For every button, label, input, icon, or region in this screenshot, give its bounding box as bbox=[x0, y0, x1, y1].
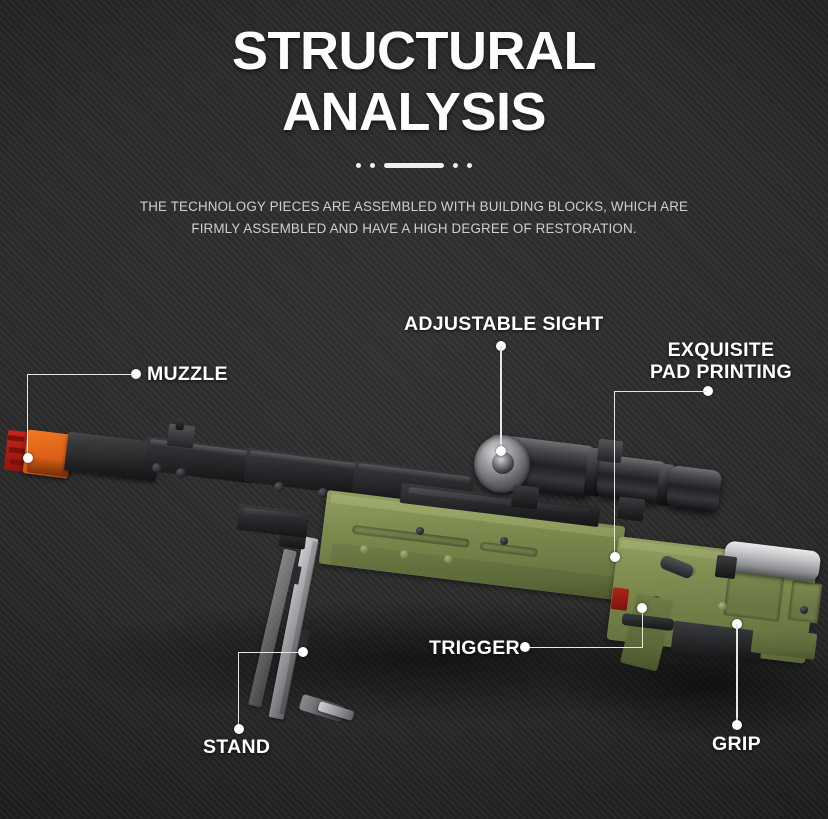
title-line-1: STRUCTURAL bbox=[232, 21, 596, 81]
callout-leader-sight-v bbox=[500, 346, 501, 451]
callout-label-muzzle: MUZZLE bbox=[147, 364, 228, 386]
front-sight-post bbox=[175, 418, 184, 431]
divider-dot-3 bbox=[453, 163, 458, 168]
callout-node-sight-target bbox=[496, 446, 506, 456]
cheek-rest-mount bbox=[715, 555, 738, 579]
page-title: STRUCTURAL ANALYSIS bbox=[0, 24, 828, 139]
divider-bar bbox=[384, 163, 444, 168]
callout-node-grip-label bbox=[732, 720, 742, 730]
page-subtitle: THE TECHNOLOGY PIECES ARE ASSEMBLED WITH… bbox=[0, 196, 828, 240]
divider-dot-4 bbox=[467, 163, 472, 168]
callout-leader-grip-v bbox=[736, 624, 737, 725]
callout-leader-muzzle-h bbox=[27, 374, 135, 375]
buttstock-pin-2 bbox=[800, 606, 808, 614]
scope-turret bbox=[597, 439, 624, 464]
divider-dot-2 bbox=[370, 163, 375, 168]
callout-label-exquisite-line-2: PAD PRINTING bbox=[650, 362, 792, 384]
callout-leader-muzzle-v bbox=[27, 374, 28, 459]
callout-leader-trigger-v bbox=[642, 612, 643, 647]
barrel-pin-1 bbox=[152, 463, 162, 473]
receiver-stud-1 bbox=[360, 545, 369, 554]
poster-canvas: STRUCTURAL ANALYSIS THE TECHNOLOGY PIECE… bbox=[0, 0, 828, 819]
callout-leader-pad-h bbox=[614, 391, 707, 392]
receiver-pin-2 bbox=[500, 537, 508, 545]
callout-label-grip: GRIP bbox=[712, 734, 761, 756]
scope-eyepiece bbox=[666, 465, 723, 513]
scope-mount-front bbox=[511, 484, 539, 509]
receiver-stud-3 bbox=[444, 555, 453, 564]
callout-label-exquisite-line-1: EXQUISITE bbox=[650, 340, 792, 362]
receiver-stud-2 bbox=[400, 550, 409, 559]
subtitle-line-2: FIRMLY ASSEMBLED AND HAVE A HIGH DEGREE … bbox=[0, 218, 828, 240]
receiver-pin-1 bbox=[416, 527, 424, 535]
buttstock-right-panel bbox=[788, 580, 823, 623]
callout-leader-stand-h bbox=[238, 652, 302, 653]
barrel-pin-3 bbox=[274, 482, 284, 492]
scope-mount-rear bbox=[617, 496, 645, 521]
subtitle-line-1: THE TECHNOLOGY PIECES ARE ASSEMBLED WITH… bbox=[0, 196, 828, 218]
barrel-pin-2 bbox=[176, 468, 186, 478]
callout-label-adjustable-sight: ADJUSTABLE SIGHT bbox=[404, 314, 603, 336]
title-divider bbox=[0, 159, 828, 171]
callout-node-muzzle-target bbox=[23, 453, 33, 463]
buttstock-stud-2 bbox=[718, 602, 727, 611]
trigger-red-part bbox=[611, 587, 630, 611]
callout-node-pad-target bbox=[610, 552, 620, 562]
title-line-2: ANALYSIS bbox=[0, 85, 828, 139]
callout-node-stand-label bbox=[234, 724, 244, 734]
callout-leader-pad-v bbox=[614, 391, 615, 557]
callout-label-exquisite-pad-printing: EXQUISITE PAD PRINTING bbox=[650, 340, 792, 384]
callout-leader-trigger-h bbox=[529, 647, 643, 648]
callout-label-trigger: TRIGGER bbox=[429, 638, 520, 660]
callout-leader-stand-v bbox=[238, 652, 239, 730]
divider-dot-1 bbox=[356, 163, 361, 168]
callout-label-stand: STAND bbox=[203, 737, 270, 759]
